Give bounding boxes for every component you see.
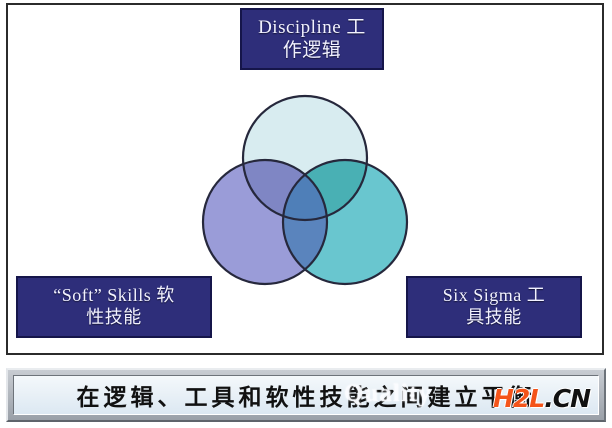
- soft-skills-label-line2: 性技能: [86, 307, 142, 329]
- six-sigma-label-line1: Six Sigma 工: [443, 285, 546, 307]
- h2l-watermark-suffix: .CN: [544, 384, 590, 413]
- discipline-label-line1: Discipline 工: [258, 16, 366, 39]
- soft-skills-label-line1: “Soft” Skills 软: [53, 285, 175, 307]
- six-sigma-label-line2: 具技能: [466, 307, 522, 329]
- label-box-soft-skills[interactable]: “Soft” Skills 软 性技能: [16, 276, 212, 338]
- label-box-discipline[interactable]: Discipline 工 作逻辑: [240, 8, 384, 70]
- bottom-banner: 在逻辑、工具和软性技能之间建立平衡 Quality H2L.CN: [6, 368, 606, 422]
- bottom-banner-text: 在逻辑、工具和软性技能之间建立平衡: [77, 378, 536, 412]
- slide-canvas: Discipline 工 作逻辑 “Soft” Skills 软 性技能 Six…: [0, 0, 612, 428]
- bottom-banner-inner: 在逻辑、工具和软性技能之间建立平衡 Quality H2L.CN: [13, 375, 599, 415]
- discipline-label-line2: 作逻辑: [283, 39, 342, 62]
- label-box-six-sigma[interactable]: Six Sigma 工 具技能: [406, 276, 582, 338]
